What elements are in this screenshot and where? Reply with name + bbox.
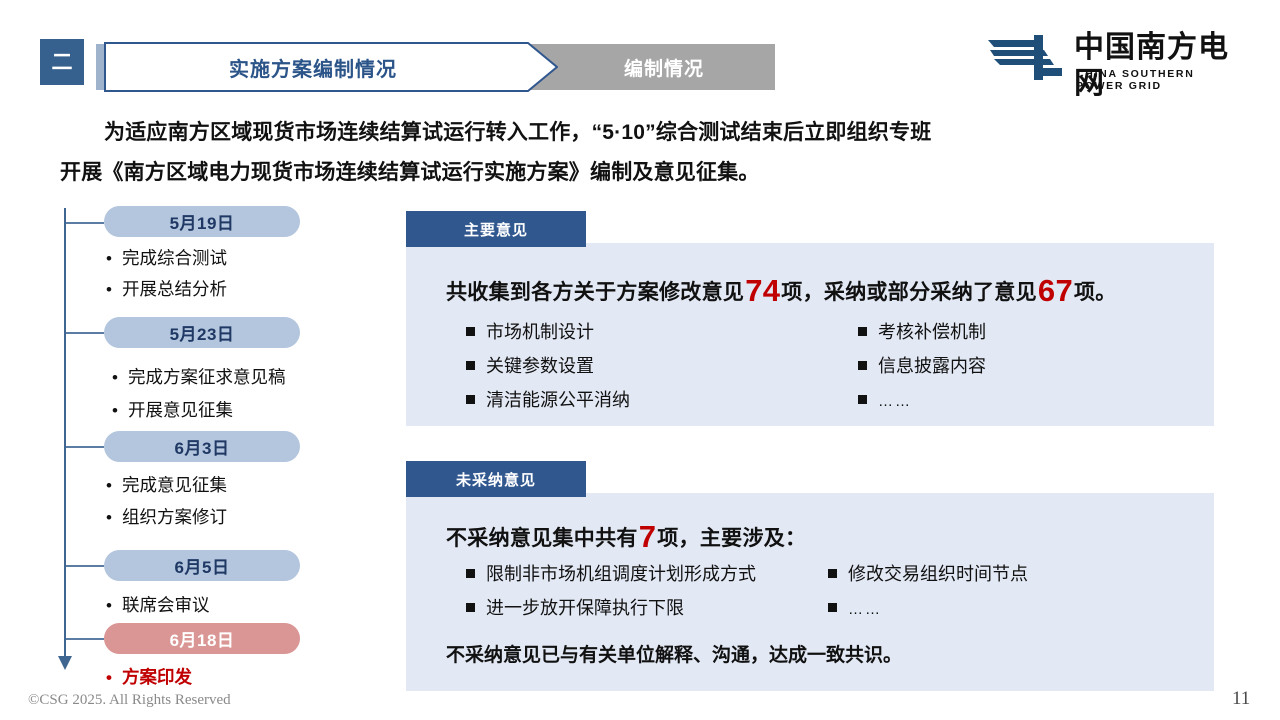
panel-main-opinions: 主要意见 共收集到各方关于方案修改意见74项，采纳或部分采纳了意见67项。 市场…	[406, 211, 1214, 426]
timeline-tick	[66, 332, 104, 334]
list-item: 关键参数设置	[466, 349, 630, 383]
timeline-arrow-icon	[58, 656, 72, 670]
csg-logo-mark-icon	[988, 35, 1064, 80]
timeline-date-pill[interactable]: 5月19日	[104, 206, 300, 237]
timeline-item-label: 方案印发	[122, 667, 192, 687]
bullet-dot-icon: •	[106, 508, 122, 528]
square-bullet-icon	[466, 569, 475, 578]
headline-post: 项。	[1074, 281, 1117, 304]
bullet-dot-icon: •	[112, 401, 128, 421]
timeline-list-item: •联席会审议	[106, 592, 210, 617]
list-item: ……	[828, 591, 1028, 627]
timeline-date-label: 5月23日	[170, 320, 235, 345]
list-item-label: 限制非市场机组调度计划形成方式	[486, 564, 756, 584]
list-item: 限制非市场机组调度计划形成方式	[466, 557, 756, 591]
timeline-list-item: •完成方案征求意见稿	[112, 364, 286, 389]
list-item: 进一步放开保障执行下限	[466, 591, 756, 625]
panel-rejected-headline: 不采纳意见集中共有7项，主要涉及：	[446, 519, 806, 555]
csg-logo: 中国南方电网 CHINA SOUTHERN POWER GRID	[988, 30, 1240, 86]
list-item: 清洁能源公平消纳	[466, 383, 630, 417]
list-item-label: 关键参数设置	[486, 356, 594, 376]
section-number-label: 二	[52, 52, 73, 73]
section-number-badge: 二	[40, 39, 84, 85]
timeline-date-pill[interactable]: 6月5日	[104, 550, 300, 581]
timeline-list-item: •完成意见征集	[106, 472, 227, 497]
timeline-axis	[64, 208, 66, 660]
bullet-dot-icon: •	[106, 280, 122, 300]
bullet-dot-icon: •	[106, 476, 122, 496]
list-item-label: 修改交易组织时间节点	[848, 564, 1028, 584]
header-tab-label: 编制情况	[598, 54, 704, 81]
square-bullet-icon	[466, 395, 475, 404]
list-item-label: ……	[878, 393, 912, 410]
timeline-item-label: 完成意见征集	[122, 475, 227, 495]
timeline-item-label: 组织方案修订	[122, 507, 227, 527]
timeline-item-label: 开展总结分析	[122, 279, 227, 299]
list-item-label: 清洁能源公平消纳	[486, 390, 630, 410]
lead-paragraph: 为适应南方区域现货市场连续结算试运行转入工作，“5·10”综合测试结束后立即组织…	[60, 113, 1240, 193]
list-item-label: ……	[848, 601, 882, 618]
bullet-dot-icon: •	[106, 668, 122, 688]
headline-count-received: 74	[744, 273, 781, 308]
timeline-item-label: 完成方案征求意见稿	[128, 367, 286, 387]
timeline-item-label: 完成综合测试	[122, 248, 227, 268]
panel-main-headline: 共收集到各方关于方案修改意见74项，采纳或部分采纳了意见67项。	[446, 273, 1117, 309]
bullet-dot-icon: •	[112, 368, 128, 388]
logo-text-en: CHINA SOUTHERN POWER GRID	[1076, 68, 1240, 92]
timeline-list-item: •完成综合测试	[106, 245, 227, 270]
panel-rejected-closing: 不采纳意见已与有关单位解释、沟通，达成一致共识。	[446, 640, 902, 667]
square-bullet-icon	[466, 603, 475, 612]
footer-page-number: 11	[1232, 688, 1250, 710]
list-item-label: 考核补偿机制	[878, 322, 986, 342]
footer-copyright: ©CSG 2025. All Rights Reserved	[28, 692, 231, 709]
list-item-label: 进一步放开保障执行下限	[486, 598, 684, 618]
headline-post: 项，主要涉及：	[657, 527, 806, 550]
timeline-date-pill-final[interactable]: 6月18日	[104, 623, 300, 654]
bullet-dot-icon: •	[106, 596, 122, 616]
list-item: 修改交易组织时间节点	[828, 557, 1028, 591]
list-item: 考核补偿机制	[858, 315, 986, 349]
headline-count-adopted: 67	[1037, 273, 1074, 308]
panel-rejected-list-right: 修改交易组织时间节点 ……	[828, 557, 1028, 627]
square-bullet-icon	[466, 361, 475, 370]
square-bullet-icon	[858, 327, 867, 336]
timeline-item-label: 开展意见征集	[128, 400, 233, 420]
header-title-chevron: 实施方案编制情况	[104, 42, 558, 92]
panel-main-tag-label: 主要意见	[464, 219, 528, 240]
timeline-item-label: 联席会审议	[122, 595, 210, 615]
square-bullet-icon	[858, 395, 867, 404]
lead-line-2: 开展《南方区域电力现货市场连续结算试运行实施方案》编制及意见征集。	[60, 153, 1240, 193]
panel-main-list-left: 市场机制设计 关键参数设置 清洁能源公平消纳	[466, 315, 630, 417]
panel-rejected-tag: 未采纳意见	[406, 461, 586, 497]
timeline-date-pill[interactable]: 5月23日	[104, 317, 300, 348]
timeline-list-item: •组织方案修订	[106, 504, 227, 529]
bullet-dot-icon: •	[106, 249, 122, 269]
list-item: 信息披露内容	[858, 349, 986, 383]
panel-rejected-opinions: 未采纳意见 不采纳意见集中共有7项，主要涉及： 限制非市场机组调度计划形成方式 …	[406, 461, 1214, 691]
headline-count-rejected: 7	[638, 519, 658, 554]
timeline-date-label: 6月3日	[175, 434, 230, 459]
headline-pre: 不采纳意见集中共有	[446, 527, 638, 550]
timeline-tick	[66, 565, 104, 567]
list-item-label: 信息披露内容	[878, 356, 986, 376]
timeline-list-item: •开展总结分析	[106, 276, 227, 301]
square-bullet-icon	[466, 327, 475, 336]
timeline-tick	[66, 446, 104, 448]
square-bullet-icon	[828, 569, 837, 578]
header-tab-chip[interactable]: 编制情况	[527, 44, 775, 90]
timeline-tick	[66, 638, 104, 640]
lead-line-1: 为适应南方区域现货市场连续结算试运行转入工作，“5·10”综合测试结束后立即组织…	[60, 113, 1240, 153]
panel-rejected-list-left: 限制非市场机组调度计划形成方式 进一步放开保障执行下限	[466, 557, 756, 625]
list-item: ……	[858, 383, 986, 419]
panel-main-tag: 主要意见	[406, 211, 586, 247]
timeline-date-label: 5月19日	[170, 209, 235, 234]
square-bullet-icon	[828, 603, 837, 612]
list-item-label: 市场机制设计	[486, 322, 594, 342]
timeline-list-item: •开展意见征集	[112, 397, 233, 422]
timeline-tick	[66, 222, 104, 224]
timeline-list-item-final: •方案印发	[106, 664, 192, 689]
panel-main-list-right: 考核补偿机制 信息披露内容 ……	[858, 315, 986, 419]
headline-mid: 项，采纳或部分采纳了意见	[781, 281, 1037, 304]
timeline-date-pill[interactable]: 6月3日	[104, 431, 300, 462]
panel-rejected-tag-label: 未采纳意见	[456, 469, 536, 490]
headline-pre: 共收集到各方关于方案修改意见	[446, 281, 744, 304]
timeline-date-label: 6月18日	[170, 626, 235, 651]
timeline-date-label: 6月5日	[175, 553, 230, 578]
square-bullet-icon	[858, 361, 867, 370]
header-title-label: 实施方案编制情况	[104, 42, 522, 92]
list-item: 市场机制设计	[466, 315, 630, 349]
timeline: 5月19日 •完成综合测试 •开展总结分析 5月23日 •完成方案征求意见稿 •…	[56, 196, 376, 696]
